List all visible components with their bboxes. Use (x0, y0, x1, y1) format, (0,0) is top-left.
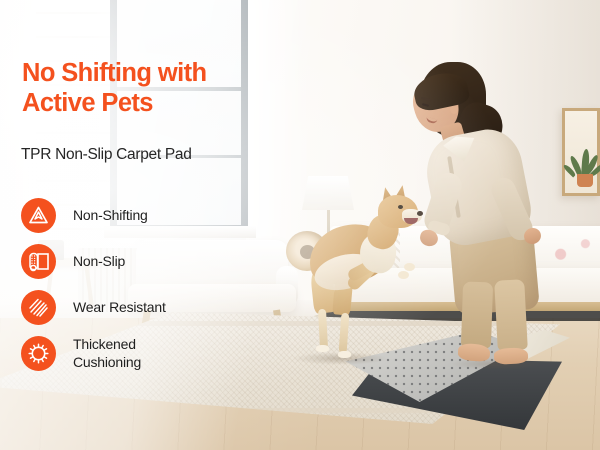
rolled-carpet-pad-icon (21, 244, 56, 279)
feature-list: Non-Shifting (21, 198, 166, 382)
feature-item-non-shifting: Non-Shifting (21, 198, 166, 233)
subheadline: TPR Non-Slip Carpet Pad (21, 146, 192, 164)
woman-leg (461, 281, 493, 348)
dog-rear-paw (338, 351, 351, 358)
woman-bare-foot (457, 343, 490, 362)
feature-label: Thickened Cushioning (73, 336, 141, 370)
cushion-burst-icon (21, 336, 56, 371)
feature-item-thickened-cushioning: Thickened Cushioning (21, 336, 166, 371)
woman-figure (396, 52, 586, 372)
feature-label: Non-Shifting (73, 207, 148, 224)
feature-item-non-slip: Non-Slip (21, 244, 166, 279)
warning-triangle-icon (21, 198, 56, 233)
product-feature-banner: No Shifting with Active Pets TPR Non-Sli… (0, 0, 600, 450)
woman-bare-foot (494, 347, 529, 365)
marketing-overlay: No Shifting with Active Pets TPR Non-Sli… (0, 0, 330, 450)
feature-label: Non-Slip (73, 253, 125, 270)
dog-shin (339, 313, 350, 353)
feature-label: Wear Resistant (73, 299, 166, 316)
abrasion-lines-icon (21, 290, 56, 325)
feature-item-wear-resistant: Wear Resistant (21, 290, 166, 325)
headline: No Shifting with Active Pets (22, 58, 302, 118)
woman-leg (494, 279, 528, 350)
